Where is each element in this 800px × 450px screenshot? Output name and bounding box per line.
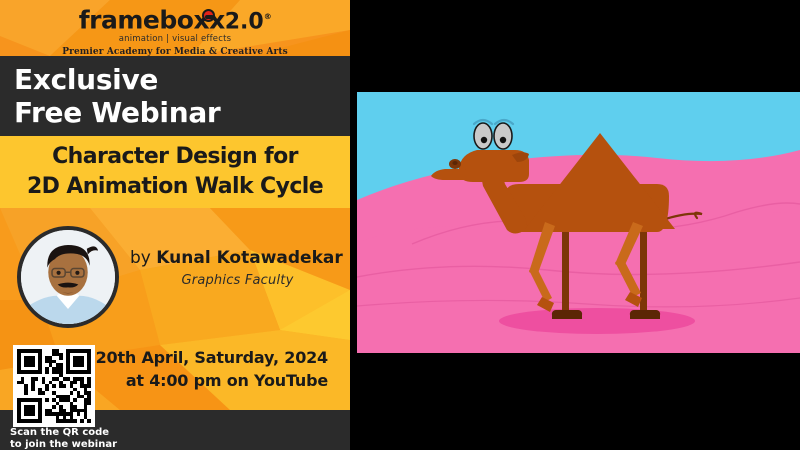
speaker-name: Kunal Kotawadekar — [156, 248, 343, 268]
banner-line-1: Exclusive — [14, 63, 350, 96]
qr-caption-line-2: to join the webinar — [10, 439, 160, 450]
logo-subtitle: Premier Academy for Media & Creative Art… — [62, 47, 288, 56]
screenshot-root: frameboxx2.0® animation | visual effects… — [0, 0, 800, 450]
animation-frame — [357, 92, 800, 353]
camel-back-hoof-left — [552, 310, 582, 319]
qr-code[interactable] — [13, 345, 95, 427]
camel-back-leg-right — [640, 232, 647, 314]
logo-lockup: frameboxx2.0® animation | visual effects… — [0, 0, 350, 56]
camel-ground-shadow — [499, 308, 695, 334]
camel-pupil-right — [500, 137, 506, 143]
logo-wordmark: frameboxx2.0® — [79, 3, 271, 35]
qr-code-matrix — [17, 349, 91, 423]
speaker-portrait-illustration — [21, 230, 115, 324]
camel-eye-left — [474, 123, 492, 149]
banner-line-2: Free Webinar — [14, 96, 350, 129]
qr-caption-line-1: Scan the QR code — [10, 427, 160, 439]
logo-red-dot-icon — [202, 9, 215, 22]
camel-eye-right — [494, 123, 512, 149]
qr-caption: Scan the QR code to join the webinar — [10, 427, 160, 450]
schedule-time: at 4:00 pm on YouTube — [126, 369, 328, 392]
brand-logo-band: frameboxx2.0® animation | visual effects… — [0, 0, 350, 56]
speaker-name-row: by Kunal Kotawadekar — [130, 248, 345, 268]
speaker-role: Graphics Faculty — [130, 273, 345, 288]
logo-tagline: animation | visual effects — [119, 34, 232, 44]
camel-back-leg-left — [562, 232, 569, 314]
schedule-date: 20th April, Saturday, 2024 — [96, 346, 328, 369]
video-player-pane[interactable] — [350, 0, 800, 450]
webinar-poster: frameboxx2.0® animation | visual effects… — [0, 0, 350, 450]
webinar-banner: Exclusive Free Webinar — [0, 56, 350, 136]
speaker-by-prefix: by — [130, 248, 156, 268]
title-line-2: 2D Animation Walk Cycle — [27, 172, 323, 202]
camel-pupil-left — [481, 137, 487, 143]
webinar-title: Character Design for 2D Animation Walk C… — [0, 136, 350, 208]
camel-nostril-hole — [452, 161, 457, 165]
title-line-1: Character Design for — [52, 142, 298, 172]
avatar — [17, 226, 119, 328]
speaker-section: by Kunal Kotawadekar Graphics Faculty — [0, 208, 350, 328]
speaker-details: by Kunal Kotawadekar Graphics Faculty — [130, 248, 345, 288]
camel-back-hoof-right — [630, 310, 660, 319]
camel-walk-cycle-scene — [357, 92, 800, 353]
logo-version-text: 2.0 — [225, 9, 264, 34]
logo-registered-mark: ® — [264, 12, 272, 21]
